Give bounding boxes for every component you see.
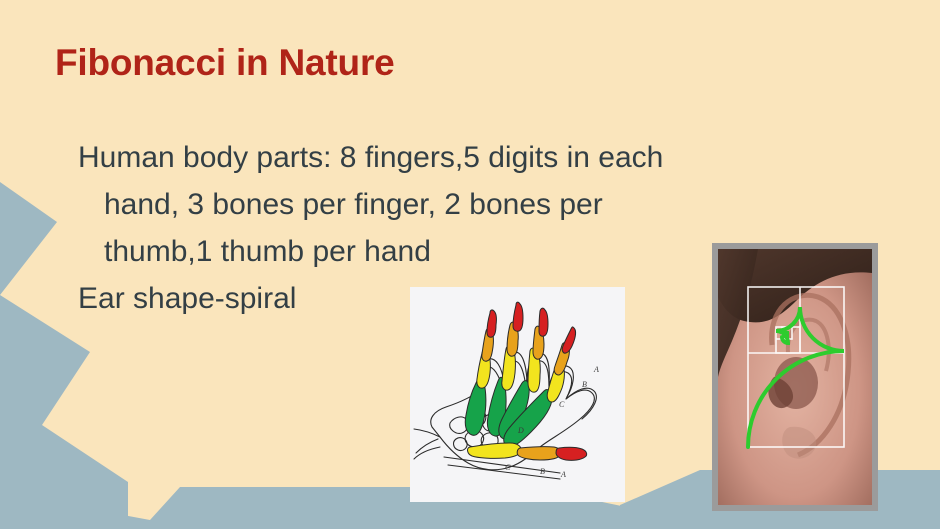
- bone-label-D: D: [517, 426, 524, 435]
- thumb-middle-phalanx: [517, 447, 561, 460]
- body-line-2: hand, 3 bones per finger, 2 bones per: [78, 181, 878, 228]
- ear-spiral-image: [712, 243, 878, 511]
- body-line-1: Human body parts: 8 fingers,5 digits in …: [78, 134, 878, 181]
- distal-phalanx: [513, 302, 523, 331]
- bone-label-B: B: [582, 380, 587, 389]
- ear-photo: [718, 249, 872, 505]
- bone-label-A2: A: [560, 470, 566, 479]
- bone-label-A: A: [593, 365, 599, 374]
- distal-phalanx: [487, 310, 496, 337]
- thumb-proximal-phalanx: [468, 443, 522, 458]
- ear-photo-drawing: [718, 249, 872, 505]
- distal-phalanx: [562, 327, 575, 353]
- bone-label-C2: C: [505, 463, 511, 472]
- bone-label-B2: B: [540, 467, 545, 476]
- thumb-distal-phalanx: [556, 447, 587, 460]
- slide-canvas: Fibonacci in Nature Human body parts: 8 …: [0, 0, 940, 529]
- distal-phalanx: [539, 308, 548, 336]
- hand-skeleton-image: A B C D C B A: [410, 287, 625, 502]
- bone-label-C: C: [559, 400, 565, 409]
- page-title: Fibonacci in Nature: [55, 42, 395, 84]
- spiral-seed-square: [782, 331, 789, 338]
- hand-skeleton-drawing: A B C D C B A: [410, 287, 625, 502]
